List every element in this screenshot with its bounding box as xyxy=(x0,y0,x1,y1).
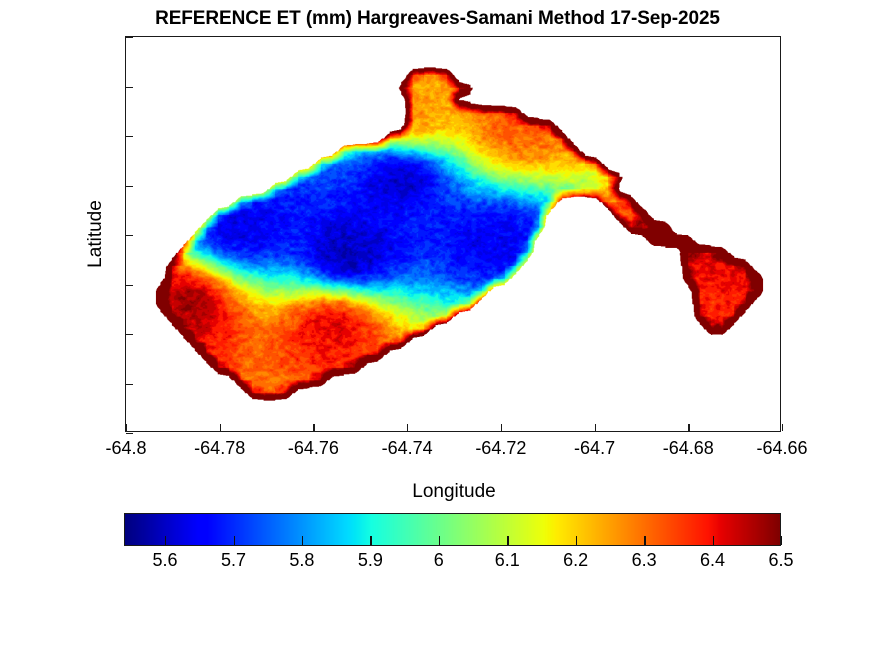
colorbar-tick-mark xyxy=(781,536,782,545)
colorbar-tick-mark xyxy=(165,536,166,545)
x-tick-mark xyxy=(688,424,689,431)
map-axes: Latitude Longitude 18.318.3118.3218.3318… xyxy=(125,36,781,432)
y-tick-mark xyxy=(126,384,133,385)
colorbar-tick-mark xyxy=(302,536,303,545)
colorbar-tick-mark xyxy=(576,536,577,545)
y-tick-mark xyxy=(126,235,133,236)
y-tick-mark xyxy=(126,433,133,434)
et-heatmap-canvas xyxy=(126,37,780,431)
y-tick-mark xyxy=(126,334,133,335)
x-axis-label: Longitude xyxy=(126,481,782,503)
x-tick-mark xyxy=(126,424,127,431)
colorbar-tick-mark xyxy=(370,536,371,545)
colorbar-tick-label: 6.5 xyxy=(731,551,831,569)
colorbar-tick-mark xyxy=(713,536,714,545)
y-tick-mark xyxy=(126,285,133,286)
x-tick-mark xyxy=(220,424,221,431)
colorbar-tick-mark xyxy=(507,536,508,545)
x-tick-mark xyxy=(782,424,783,431)
colorbar: 5.65.75.85.966.16.26.36.46.5 xyxy=(124,513,781,546)
y-tick-mark xyxy=(126,37,133,38)
colorbar-tick-mark xyxy=(234,536,235,545)
colorbar-tick-mark xyxy=(644,536,645,545)
figure-root: REFERENCE ET (mm) Hargreaves-Samani Meth… xyxy=(0,0,875,656)
x-tick-label: -64.66 xyxy=(722,439,842,457)
chart-title: REFERENCE ET (mm) Hargreaves-Samani Meth… xyxy=(0,8,875,30)
y-tick-mark xyxy=(126,186,133,187)
x-tick-mark xyxy=(595,424,596,431)
y-axis-label: Latitude xyxy=(85,200,107,268)
x-tick-mark xyxy=(501,424,502,431)
x-tick-mark xyxy=(407,424,408,431)
colorbar-gradient xyxy=(124,513,781,546)
y-tick-mark xyxy=(126,136,133,137)
y-tick-mark xyxy=(126,87,133,88)
x-tick-mark xyxy=(313,424,314,431)
colorbar-tick-mark xyxy=(439,536,440,545)
